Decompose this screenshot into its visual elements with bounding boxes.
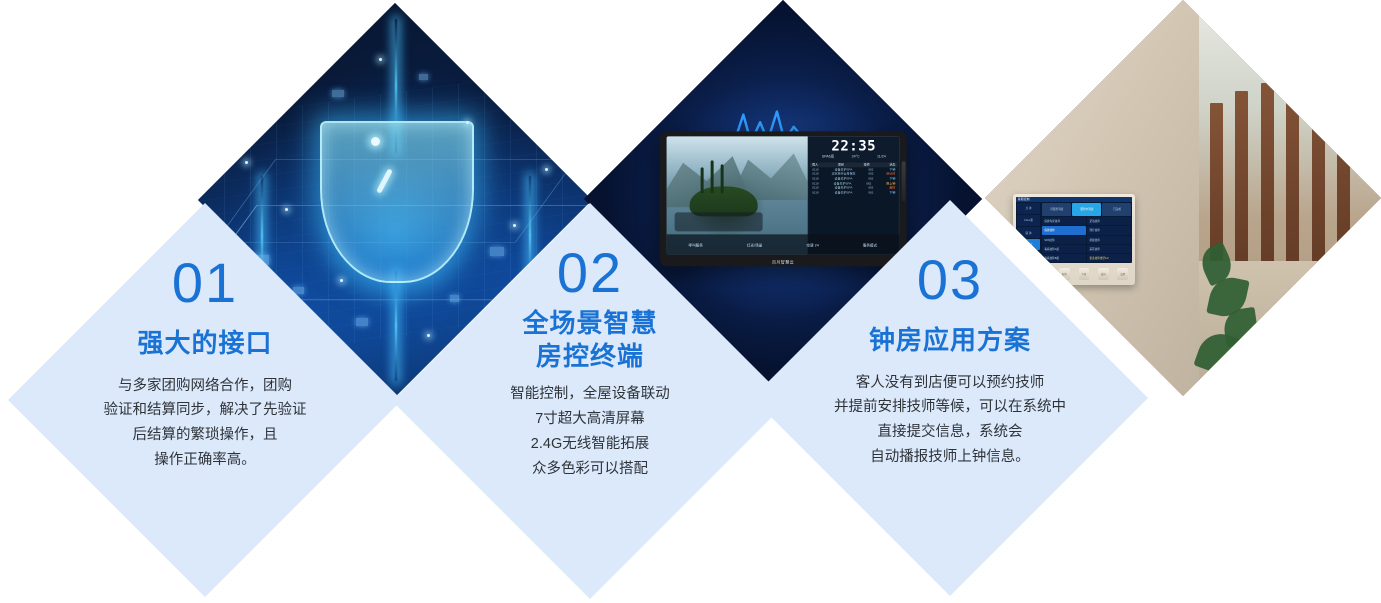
wood-slat [1337,59,1350,273]
desc-line: 直接提交信息，系统会 [834,420,1066,445]
chip-block [450,295,459,302]
panel-item[interactable]: 保健专家技师 [1042,217,1086,225]
clock-time: 22:35 [811,139,896,153]
screen-button-aircon[interactable]: 空调 24 [806,242,819,247]
panel-button-back[interactable]: 返回 [1098,268,1109,280]
panel-item[interactable]: 按摩技师 [1087,236,1131,244]
tablet-brand: 百月智慧云 [660,260,907,266]
desc-line: 操作正确率高。 [104,448,307,473]
cell-tech: 062 [868,190,873,195]
desc-line: 智能控制，全屋设备联动 [510,382,670,407]
tablet-side-button [901,161,905,202]
date-label: 11/24 [877,154,886,159]
panel-tabs: 待服务列表 服务中列表 已完成 [1042,203,1131,216]
wood-slat [1235,91,1248,273]
tree-shape [701,167,704,193]
feature-title-03: 钟房应用方案 [869,324,1031,357]
panel-item[interactable]: SPA技师 [1042,236,1086,244]
tree-shape [720,165,723,193]
desc-line: 自动播报技师上钟信息。 [834,445,1066,470]
desc-line: 客人没有到店便可以预约技师 [834,371,1066,396]
panel-body: 点 钟 CALL账 圆 钟 转钟区 直 钟 待服务列表 服务中列表 已完成 [1016,202,1133,264]
panel-item[interactable]: 足浴技师 [1087,217,1131,225]
panel-item-selected[interactable]: 保健技师 [1042,226,1086,234]
feature-title-02: 全场景智慧 房控终端 [522,307,657,372]
light-spark [245,161,248,164]
feature-desc-03: 客人没有到店便可以预约技师 并提前安排技师等候，可以在系统中 直接提交信息，系统… [834,371,1066,471]
feature-number-03: 03 [917,252,983,308]
panel-button-settings[interactable]: 设置 [1117,268,1128,280]
panel-column-right: 足浴技师 理疗技师 按摩技师 采耳技师 更多技师类型1/2 [1087,217,1131,262]
cell-item: 设备养护SPA [835,190,853,195]
cell-id: 0119 [812,190,818,195]
panel-item-more[interactable]: 更多技师类型1/2 [1087,254,1131,262]
brand-label: 百月智慧云 [772,260,794,266]
screen-button-call[interactable]: 呼叫服务 [689,242,703,247]
wood-slat [1261,83,1274,273]
chip-block [490,247,504,256]
panel-screen: 客服控制 点 钟 CALL账 圆 钟 转钟区 直 钟 待服务列表 [1016,197,1133,263]
wall-control-panel[interactable]: 客服控制 点 钟 CALL账 圆 钟 转钟区 直 钟 待服务列表 [1013,194,1136,285]
media-control-bar[interactable] [675,212,763,231]
panel-column-left: 保健专家技师 保健技师 SPA技师 看看技师A组 看看技师B组 [1042,217,1086,262]
tablet-device: 22:35 SPA6房 24°C 11/24 病人 项目 技师 [660,131,907,266]
feature-number-01: 01 [172,255,238,311]
panel-tab-waiting[interactable]: 待服务列表 [1042,203,1071,216]
feature-desc-02: 智能控制，全屋设备联动 7寸超大高清屏幕 2.4G无线智能拓展 众多色彩可以搭配 [510,382,670,482]
feature-diamond-banner: 22:35 SPA6房 24°C 11/24 病人 项目 技师 [0,0,1381,603]
panel-item[interactable]: 看看技师A组 [1042,245,1086,253]
panel-key-dianzhong[interactable]: 点 钟 [1017,203,1041,214]
light-spark [285,208,288,211]
chip-block [356,318,368,326]
panel-columns: 保健专家技师 保健技师 SPA技师 看看技师A组 看看技师B组 足浴技师 理疗技… [1042,217,1131,262]
panel-item[interactable]: 采耳技师 [1087,245,1131,253]
room-label: SPA6房 [822,154,835,159]
screen-bottom-bar: 呼叫服务 灯光/场景 空调 24 服务模式 [667,235,900,255]
cell-status: 下钟 [889,190,895,195]
panel-main: 待服务列表 服务中列表 已完成 保健专家技师 保健技师 SPA技师 看看技师A组 [1041,202,1132,264]
title-line: 房控终端 [522,340,657,373]
panel-item[interactable]: 理疗技师 [1087,226,1131,234]
desc-line: 与多家团购网络合作，团购 [104,374,307,399]
panel-button-confirm[interactable]: 确认 [1040,268,1051,280]
panel-key-call[interactable]: CALL账 [1017,215,1041,226]
desc-line: 验证和结算同步，解决了先验证 [104,398,307,423]
wood-slat [1286,75,1299,273]
temp-label: 24°C [852,154,860,159]
chip-block [332,90,344,97]
desc-line: 后结算的繁琐操作，且 [104,423,307,448]
panel-key-zhuanzhong[interactable]: 转钟区 [1017,239,1041,250]
desc-line: 众多色彩可以搭配 [510,457,670,482]
light-spark [340,279,343,282]
desc-line: 并提前安排技师等候，可以在系统中 [834,395,1066,420]
feature-number-02: 02 [557,245,623,301]
feature-desc-01: 与多家团购网络合作，团购 验证和结算同步，解决了先验证 后结算的繁琐操作，且 操… [104,374,307,474]
screen-button-service-mode[interactable]: 服务模式 [863,242,877,247]
panel-tab-serving[interactable]: 服务中列表 [1072,203,1101,216]
desc-line: 7寸超大高清屏幕 [510,407,670,432]
panel-side-keys: 点 钟 CALL账 圆 钟 转钟区 直 钟 [1016,202,1042,264]
chip-block [419,74,428,80]
panel-key-yuanzhong[interactable]: 圆 钟 [1017,227,1041,238]
light-spark [427,334,430,337]
panel-button-finish[interactable]: 下钟 [1079,268,1090,280]
light-beam-4 [395,271,397,381]
clock-meta: SPA6房 24°C 11/24 [811,153,896,160]
wood-slat [1312,67,1325,273]
tree-shape [710,160,713,193]
feature-title-01: 强大的接口 [137,327,272,360]
shield-icon [320,121,474,283]
panel-hard-buttons: 呼叫 确认 取消 下钟 返回 设置 [1016,263,1133,283]
screen-button-lighting[interactable]: 灯光/场景 [747,242,763,247]
panel-item[interactable]: 看看技师B组 [1042,254,1086,262]
light-spark [513,224,516,227]
light-spark [379,58,382,61]
room-background [1199,0,1381,396]
desc-line: 2.4G无线智能拓展 [510,432,670,457]
panel-button-cancel[interactable]: 取消 [1059,268,1070,280]
clock-block: 22:35 SPA6房 24°C 11/24 [808,136,899,161]
title-line: 全场景智慧 [522,307,657,340]
panel-key-zhizhong[interactable]: 直 钟 [1017,251,1041,262]
tablet-screen: 22:35 SPA6房 24°C 11/24 病人 项目 技师 [667,136,900,254]
panel-tab-done[interactable]: 已完成 [1102,203,1131,216]
table-row: 0119 设备养护SPA 062 下钟 [810,190,897,195]
